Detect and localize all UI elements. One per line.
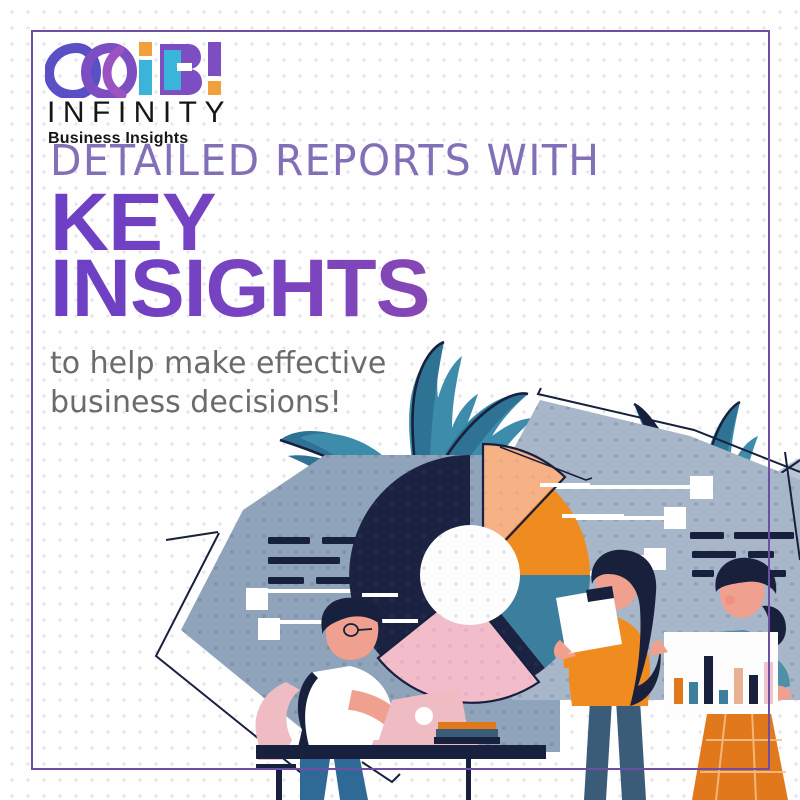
headline-subtitle-line-2: business decisions!	[50, 384, 629, 422]
brand-logo[interactable]: INFINITY Business Insights	[45, 38, 245, 150]
headline-block: DETAILED REPORTS WITH KEY INSIGHTS to he…	[50, 140, 629, 422]
infinity-ib-logo-icon	[45, 38, 220, 96]
poster-canvas: INFINITY Business Insights DETAILED REPO…	[0, 0, 800, 800]
brand-name: INFINITY	[45, 98, 245, 128]
headline-subtitle-line-1: to help make effective	[50, 345, 629, 383]
headline-kicker: DETAILED REPORTS WITH	[50, 140, 600, 183]
headline-subtitle: to help make effective business decision…	[50, 345, 629, 422]
headline-line-2: INSIGHTS	[50, 253, 629, 325]
